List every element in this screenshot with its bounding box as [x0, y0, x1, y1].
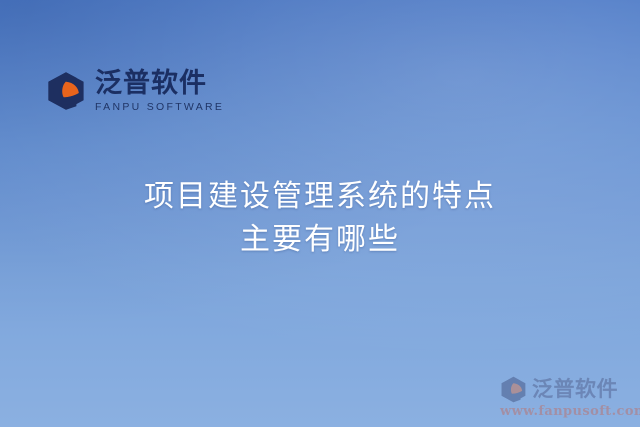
page-title-line-1: 项目建设管理系统的特点 [0, 176, 640, 219]
brand-logo-lockup: 泛普软件 FANPU SOFTWARE [46, 70, 224, 113]
watermark-name-cn: 泛普软件 [532, 379, 618, 400]
watermark-url: www.fanpusoft.com [500, 404, 632, 419]
page-title-line-2: 主要有哪些 [0, 219, 640, 262]
banner-canvas: 泛普软件 FANPU SOFTWARE 项目建设管理系统的特点 主要有哪些 泛普… [0, 0, 640, 427]
watermark: 泛普软件 www.fanpusoft.com [500, 376, 632, 419]
brand-text-block: 泛普软件 FANPU SOFTWARE [95, 70, 224, 113]
watermark-logo-row: 泛普软件 [500, 376, 632, 403]
page-title: 项目建设管理系统的特点 主要有哪些 [0, 176, 640, 261]
fanpu-logo-icon [500, 376, 527, 403]
brand-name-cn: 泛普软件 [95, 70, 224, 98]
brand-name-en: FANPU SOFTWARE [95, 102, 224, 113]
fanpu-logo-icon [46, 71, 86, 111]
